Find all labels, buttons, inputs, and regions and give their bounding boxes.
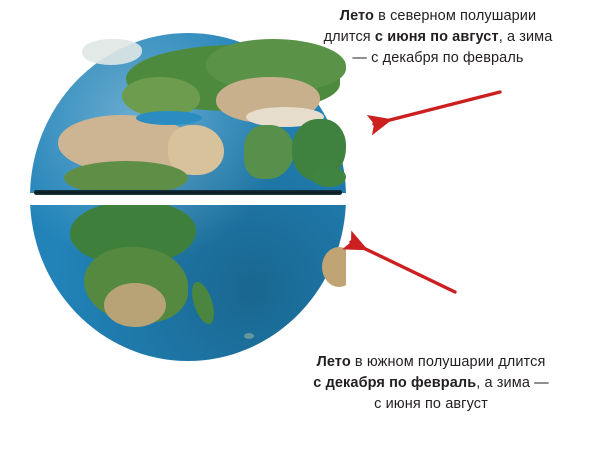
caption-north-line-3: — с декабря по февраль [282, 48, 594, 69]
caption-north-line-2: длится с июня по август, а зима [282, 27, 594, 48]
landmass-sahel [64, 161, 188, 193]
caption-south-line-1: Лето в южном полушарии длится [276, 352, 586, 373]
caption-north-line-1: Лето в северном полушарии [282, 6, 594, 27]
caption-south-line1-rest: в южном полушарии длится [351, 354, 546, 370]
landmass-australia [322, 247, 346, 287]
equator-split-gap [30, 195, 346, 205]
diagram-canvas: Лето в северном полушарии длится с июня … [0, 0, 600, 450]
earth-globe [30, 33, 346, 361]
caption-northern-hemisphere: Лето в северном полушарии длится с июня … [282, 6, 594, 69]
caption-north-line2-post: , а зима [499, 29, 553, 45]
caption-south-line2-post: , а зима — [476, 375, 548, 391]
caption-south-line-3: с июня по август [276, 394, 586, 415]
caption-south-line2-bold: с декабря по февраль [313, 375, 476, 391]
caption-north-line2-pre: длится [324, 29, 375, 45]
caption-north-line2-bold: с июня по август [375, 29, 499, 45]
landmass-indonesia [312, 167, 346, 187]
globe-sphere-south [30, 205, 346, 361]
caption-south-line-2: с декабря по февраль, а зима — [276, 373, 586, 394]
landmass-madagascar [188, 279, 219, 326]
arrow-to-southern-hemisphere [351, 242, 455, 292]
landmass-india [244, 125, 294, 179]
landmass-kalahari [104, 283, 166, 327]
landmass-greenland [82, 39, 142, 65]
water-mediterranean [136, 111, 202, 125]
caption-south-line1-bold: Лето [317, 354, 351, 370]
arrow-to-northern-hemisphere [374, 92, 500, 124]
landmass-island-speck [244, 333, 254, 339]
southern-hemisphere[interactable] [30, 205, 346, 361]
caption-north-line1-bold: Лето [340, 8, 374, 24]
caption-southern-hemisphere: Лето в южном полушарии длится с декабря … [276, 352, 586, 415]
caption-north-line1-rest: в северном полушарии [374, 8, 536, 24]
